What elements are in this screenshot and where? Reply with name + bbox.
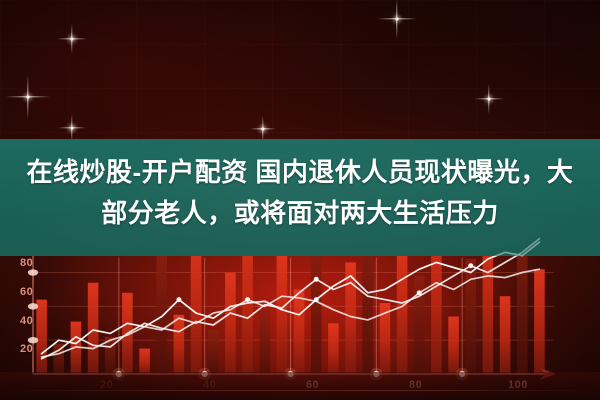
chart-line-series-2 <box>42 239 540 359</box>
headline-line-1: 在线炒股-开户配资 国内退休人员现状曝光，大 <box>0 152 600 193</box>
page-title: 在线炒股-开户配资 国内退休人员现状曝光，大 部分老人，或将面对两大生活压力 <box>0 152 600 234</box>
chart-line-series-1 <box>42 242 540 354</box>
banner-image: 100 80 60 40 20 20 40 60 80 100 在线炒股-开户配… <box>0 0 600 400</box>
headline-line-2: 部分老人，或将面对两大生活压力 <box>0 193 600 234</box>
chart-line-series-3 <box>42 269 540 357</box>
